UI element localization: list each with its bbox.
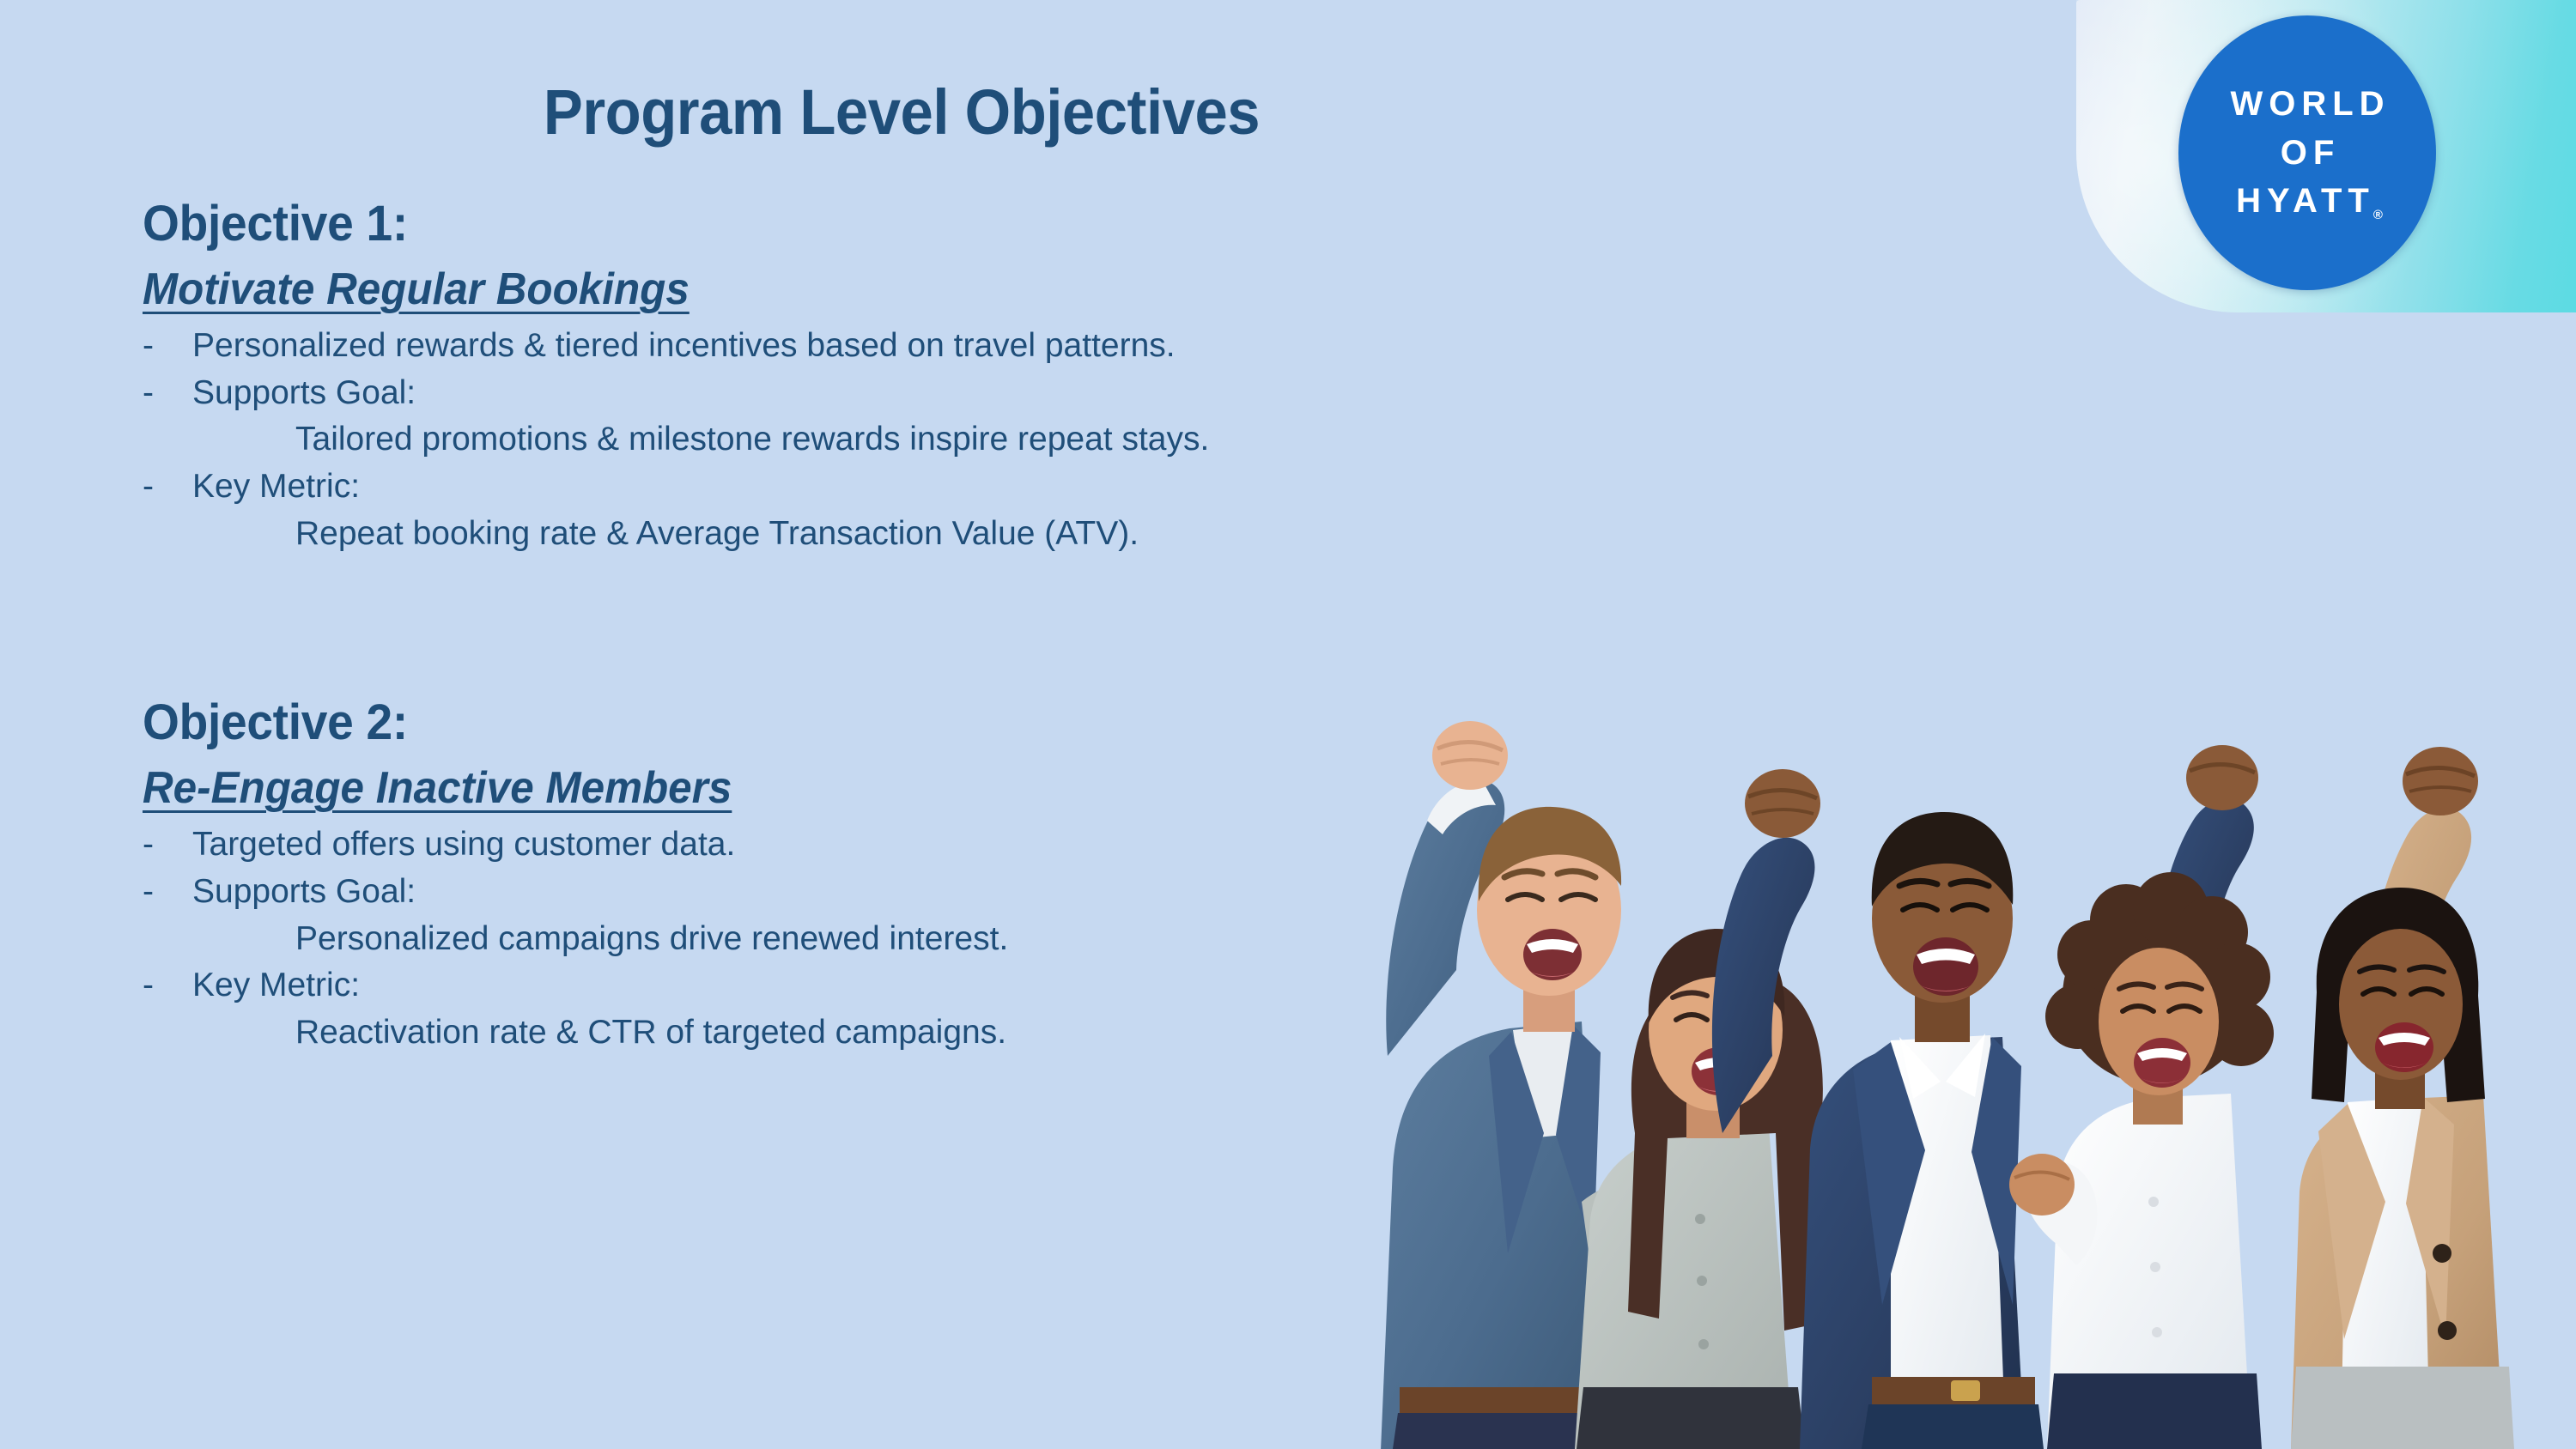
person-woman-white-shirt [2009, 745, 2274, 1449]
logo-line-hyatt: HYATT® [2230, 177, 2385, 226]
objectives-container: Objective 1: Motivate Regular Bookings -… [143, 197, 1482, 1058]
objective-block-2: Objective 2: Re-Engage Inactive Members … [143, 696, 1482, 1054]
objective-1-heading: Objective 1: [143, 197, 1415, 252]
logo-hyatt-word: HYATT [2236, 182, 2375, 220]
bullet-text: Key Metric: [192, 964, 1482, 1008]
person-woman-grey-blouse [1575, 929, 1826, 1449]
fist-icon [2186, 745, 2258, 810]
bullet-dash-icon: - [143, 964, 192, 1008]
fist-icon [2403, 747, 2478, 815]
bullet-text: Personalized rewards & tiered incentives… [192, 324, 1482, 368]
list-item: - Personalized rewards & tiered incentiv… [143, 324, 1482, 368]
world-of-hyatt-logo: WORLD OF HYATT® [2178, 15, 2436, 290]
objective-1-bullet-list: - Personalized rewards & tiered incentiv… [143, 324, 1482, 555]
fist-icon [1745, 769, 1820, 838]
fist-icon [2009, 1154, 2075, 1216]
cheering-team-illustration [1298, 652, 2576, 1449]
sub-line-text: Repeat booking rate & Average Transactio… [295, 512, 1482, 556]
objective-2-heading: Objective 2: [143, 696, 1415, 750]
objective-block-1: Objective 1: Motivate Regular Bookings -… [143, 197, 1482, 555]
list-item: - Key Metric: [143, 465, 1482, 509]
person-woman-tan-blazer [2291, 747, 2514, 1449]
logo-line-world: WORLD [2224, 80, 2390, 129]
bullet-dash-icon: - [143, 465, 192, 509]
objective-1-subheading: Motivate Regular Bookings [143, 264, 690, 316]
bullet-text: Supports Goal: [192, 372, 1482, 415]
logo-line-of: OF [2275, 129, 2341, 178]
slide-canvas: WORLD OF HYATT® Program Level Objectives… [0, 0, 2576, 1449]
objective-2-bullet-list: - Targeted offers using customer data. -… [143, 823, 1482, 1054]
objective-2-subheading: Re-Engage Inactive Members [143, 762, 732, 815]
page-title: Program Level Objectives [303, 76, 1501, 149]
cheering-team-photo [1298, 652, 2576, 1449]
bullet-dash-icon: - [143, 870, 192, 914]
list-item: - Supports Goal: [143, 870, 1482, 914]
logo-text: WORLD OF HYATT® [2178, 15, 2436, 290]
bullet-dash-icon: - [143, 372, 192, 415]
bullet-text: Targeted offers using customer data. [192, 823, 1482, 867]
list-item: - Key Metric: [143, 964, 1482, 1008]
list-item: - Targeted offers using customer data. [143, 823, 1482, 867]
bullet-dash-icon: - [143, 324, 192, 368]
list-item: - Supports Goal: [143, 372, 1482, 415]
sub-line-text: Tailored promotions & milestone rewards … [295, 418, 1482, 462]
bullet-dash-icon: - [143, 823, 192, 867]
registered-trademark-icon: ® [2373, 208, 2383, 222]
bullet-text: Supports Goal: [192, 870, 1482, 914]
fist-icon [1432, 721, 1508, 790]
bullet-text: Key Metric: [192, 465, 1482, 509]
